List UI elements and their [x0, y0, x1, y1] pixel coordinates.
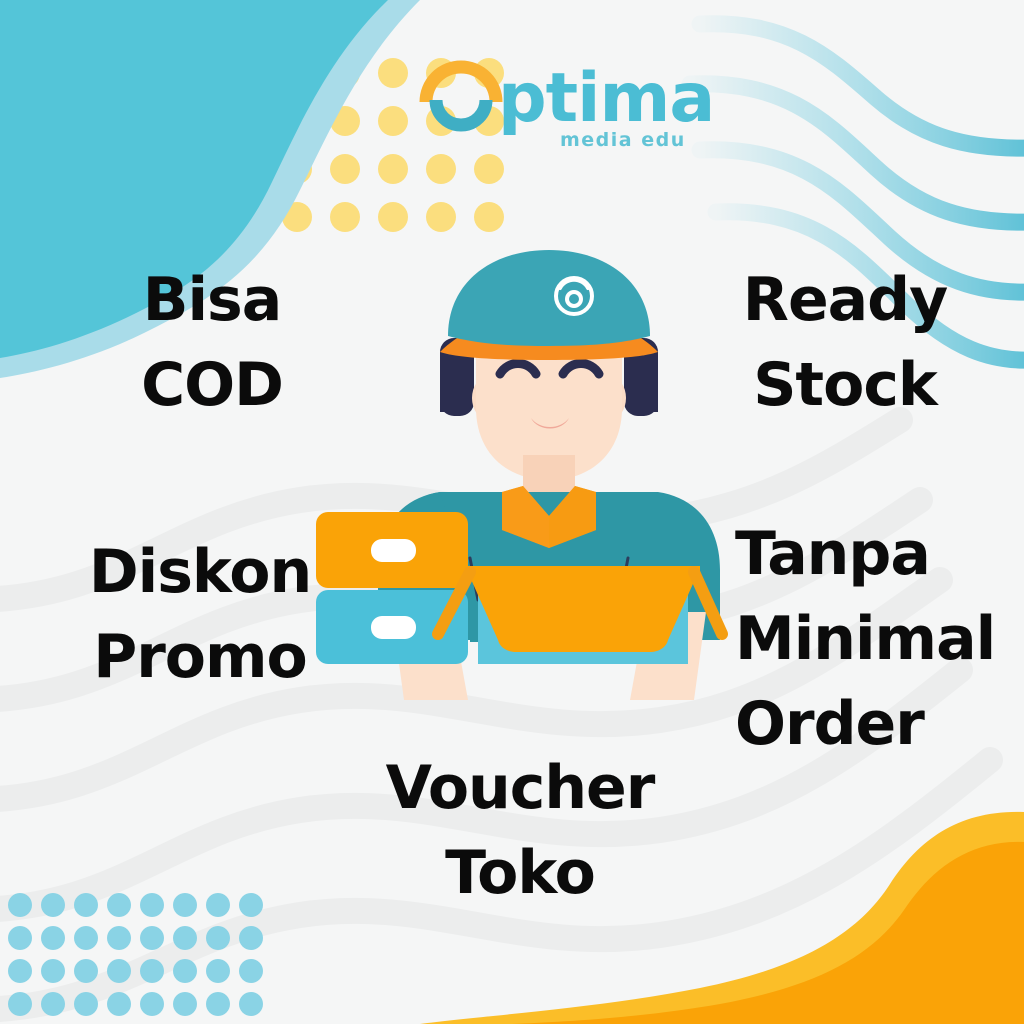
promotional-poster: ptima media edu — [0, 0, 1024, 1024]
feature-text-bisa-cod: Bisa COD — [82, 258, 342, 428]
feature-text-tanpa-minimal-order: Tanpa Minimal Order — [735, 512, 1024, 768]
feature-text-diskon-promo: Diskon Promo — [60, 530, 340, 700]
stacked-box-bottom-label — [371, 616, 416, 639]
feature-text-ready-stock: Ready Stock — [710, 258, 980, 428]
open-box-front — [466, 568, 700, 652]
cap-crown — [448, 250, 650, 346]
feature-text-voucher-toko: Voucher Toko — [350, 746, 690, 916]
stacked-box-top-label — [371, 539, 416, 562]
